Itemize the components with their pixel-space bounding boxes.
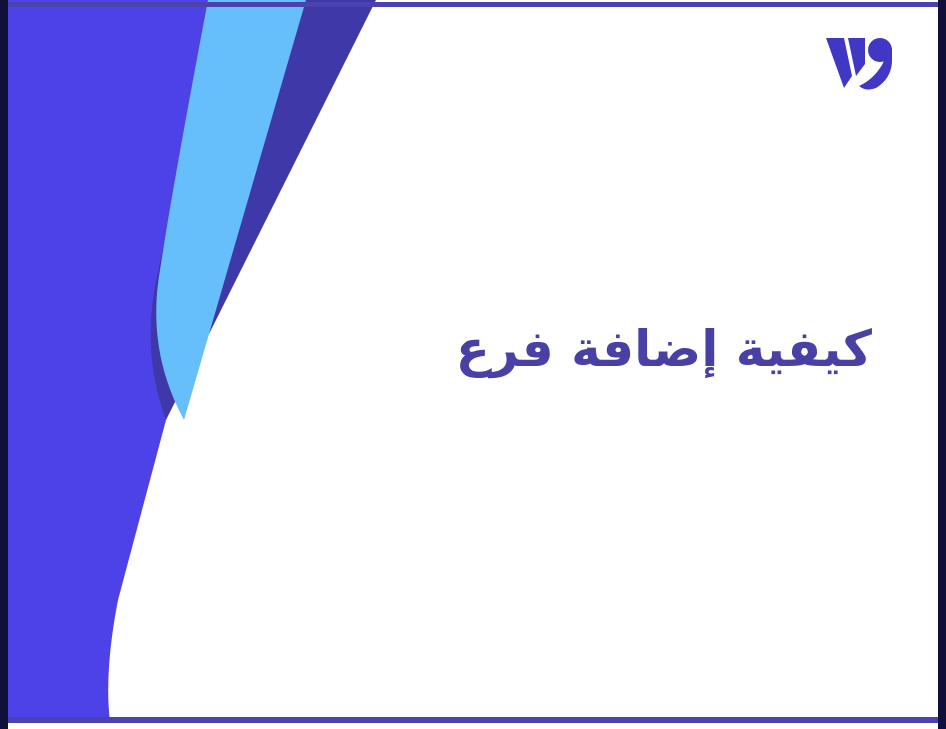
slide-root: كيفية إضافة فرع <box>0 0 946 729</box>
waffer-w-logo-icon <box>818 34 902 96</box>
brand-logo <box>818 34 902 96</box>
bottom-white-strip <box>0 723 946 729</box>
accent-rule-top <box>8 2 938 7</box>
title-block: كيفية إضافة فرع <box>0 318 872 381</box>
slide-title: كيفية إضافة فرع <box>0 318 872 381</box>
